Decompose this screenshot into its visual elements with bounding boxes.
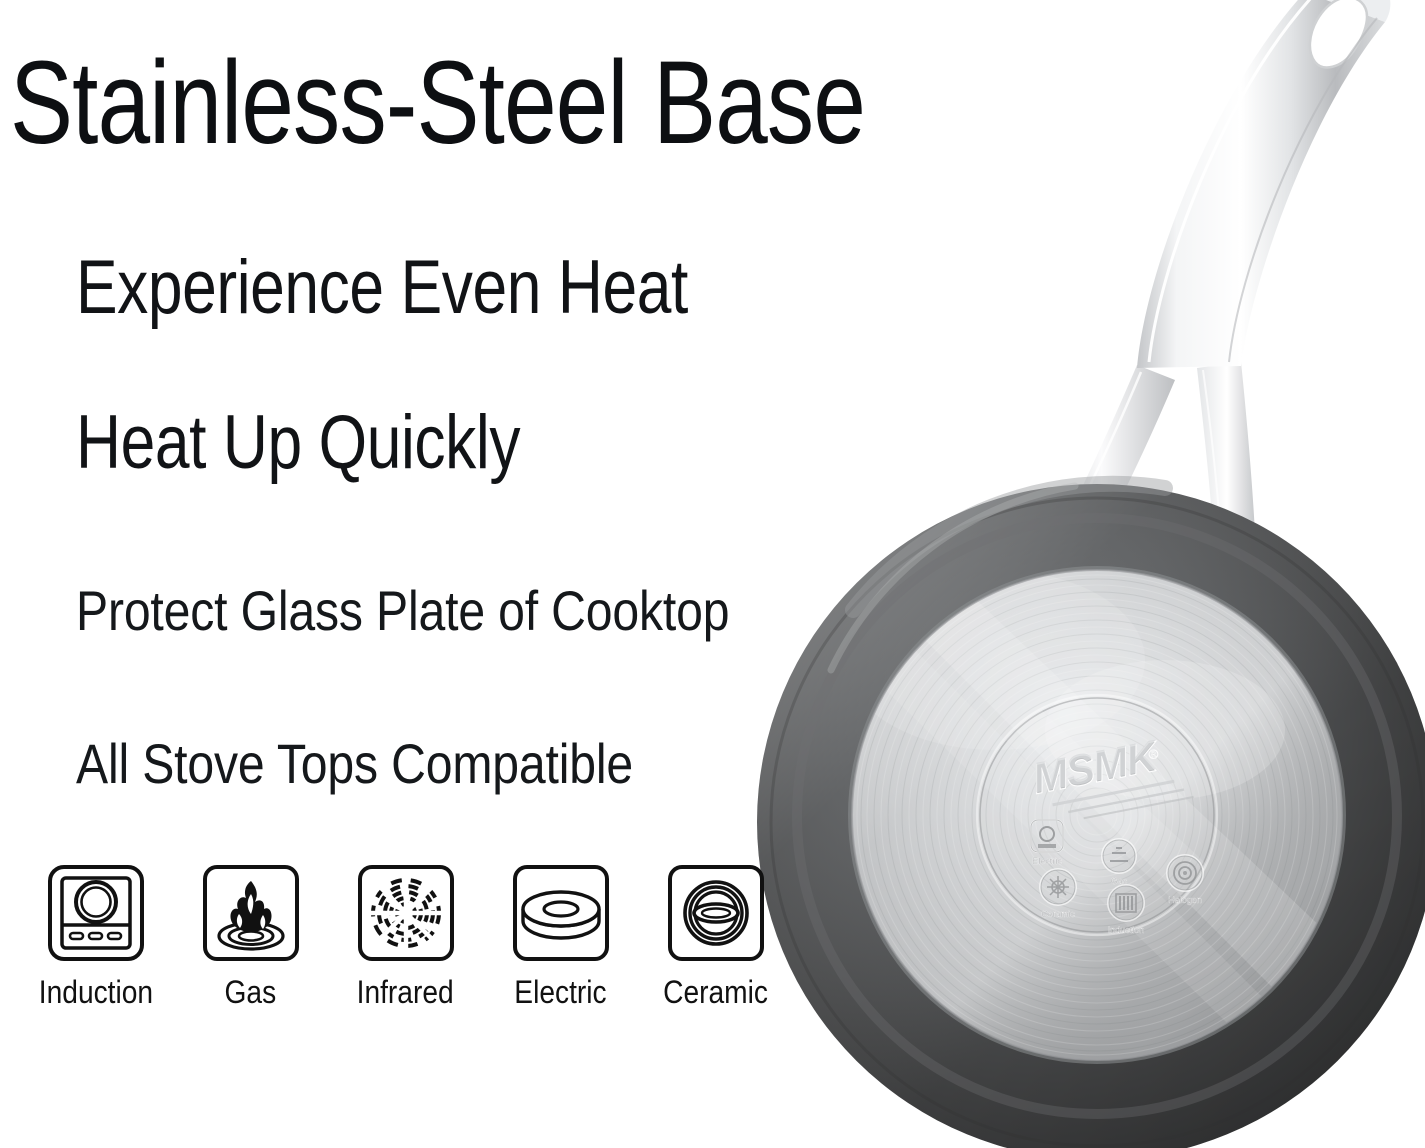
page-title: Stainless-Steel Base xyxy=(10,44,865,162)
electric-disc-icon xyxy=(509,862,613,966)
ceramic-ring-icon xyxy=(664,862,768,966)
compat-label-ceramic: Ceramic xyxy=(663,974,768,1011)
compat-label-electric: Electric xyxy=(514,974,606,1011)
svg-text:Induction: Induction xyxy=(1108,925,1145,935)
compat-label-induction: Induction xyxy=(38,974,152,1011)
subtitle-even-heat: Experience Even Heat xyxy=(76,250,688,326)
svg-text:Halogen: Halogen xyxy=(1168,895,1202,905)
compat-item-infrared: Infrared xyxy=(328,862,483,1011)
benefit-all-stove-tops: All Stove Tops Compatible xyxy=(76,736,633,792)
svg-text:Electric: Electric xyxy=(1032,856,1062,866)
compat-item-gas: Gas xyxy=(173,862,328,1011)
benefit-protect-glass: Protect Glass Plate of Cooktop xyxy=(76,583,729,639)
compat-label-infrared: Infrared xyxy=(357,974,454,1011)
subtitle-heat-up: Heat Up Quickly xyxy=(76,405,520,481)
stove-compatibility-strip: Induction Gas xyxy=(18,862,793,1011)
compat-label-gas: Gas xyxy=(225,974,277,1011)
frying-pan-illustration: MSMK MSMK ® Electric xyxy=(745,0,1425,1148)
svg-text:Ceramic: Ceramic xyxy=(1041,909,1075,919)
compat-item-ceramic: Ceramic xyxy=(638,862,793,1011)
product-feature-graphic: MSMK MSMK ® Electric xyxy=(0,0,1425,1148)
compat-item-electric: Electric xyxy=(483,862,638,1011)
compat-item-induction: Induction xyxy=(18,862,173,1011)
induction-cooktop-icon xyxy=(44,862,148,966)
gas-flame-icon xyxy=(199,862,303,966)
infrared-coil-icon xyxy=(354,862,458,966)
